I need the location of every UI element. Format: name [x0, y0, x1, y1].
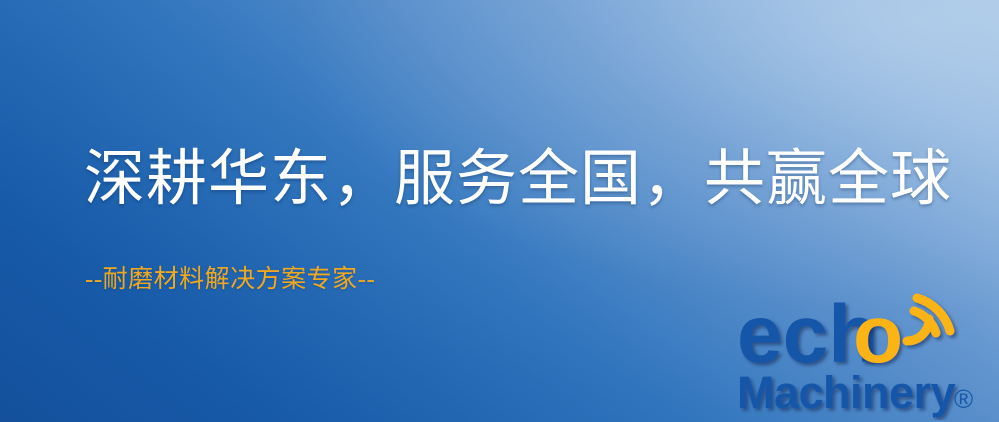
logo-tagline: Machinery: [737, 367, 956, 418]
registered-trademark-icon: ®: [954, 384, 973, 414]
banner-headline: 深耕华东，服务全国，共赢全球: [84, 149, 952, 210]
echo-machinery-logo[interactable]: ech o Machinery ®: [735, 284, 991, 420]
banner-subtitle: --耐磨材料解决方案专家--: [85, 267, 375, 292]
promo-banner: 深耕华东，服务全国，共赢全球 --耐磨材料解决方案专家-- ech o: [0, 0, 999, 422]
signal-waves-icon: [907, 298, 950, 341]
logo-tagline-text: Machinery: [737, 367, 956, 418]
